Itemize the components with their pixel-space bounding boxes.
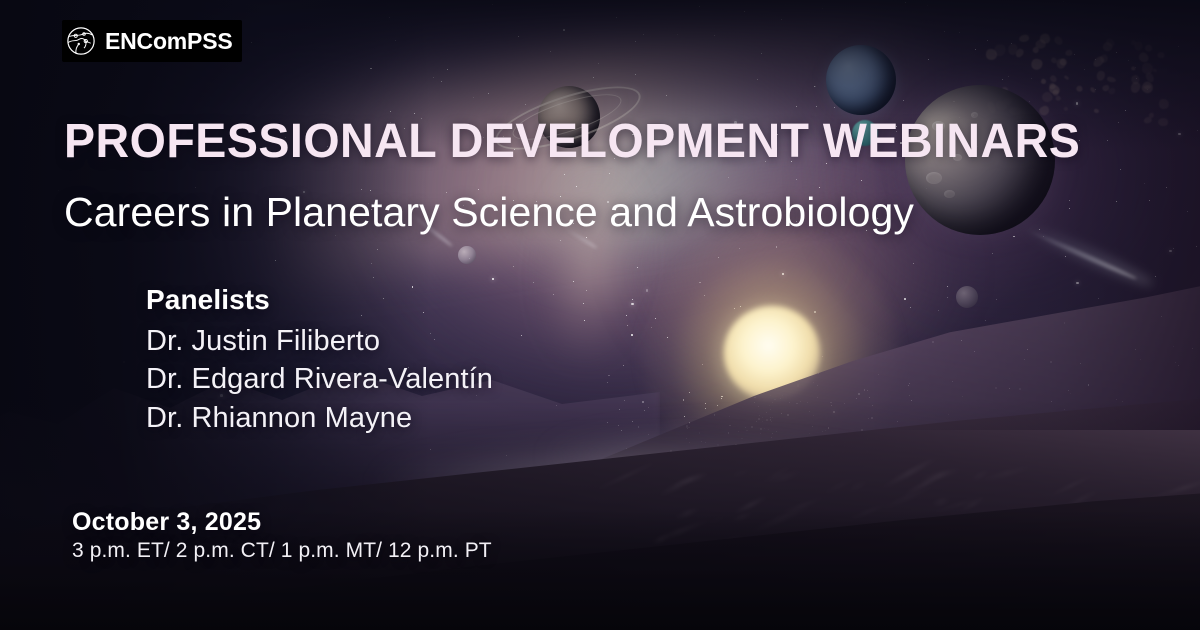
event-date: October 3, 2025 [72, 508, 492, 537]
brand-logo[interactable]: ENComPSS [62, 20, 242, 62]
webinar-poster: ENComPSS PROFESSIONAL DEVELOPMENT WEBINA… [0, 0, 1200, 630]
panelists-heading: Panelists [146, 284, 493, 316]
brand-name: ENComPSS [105, 30, 232, 53]
panelist-name: Dr. Edgard Rivera-Valentín [146, 360, 493, 398]
page-subtitle: Careers in Planetary Science and Astrobi… [64, 190, 914, 235]
panelist-name: Dr. Justin Filiberto [146, 322, 493, 360]
panelist-name: Dr. Rhiannon Mayne [146, 399, 493, 437]
globe-network-icon [66, 26, 96, 56]
panelists-block: Panelists Dr. Justin Filiberto Dr. Edgar… [146, 284, 493, 437]
schedule-block: October 3, 2025 3 p.m. ET/ 2 p.m. CT/ 1 … [72, 508, 492, 563]
page-title: PROFESSIONAL DEVELOPMENT WEBINARS [64, 118, 1080, 166]
event-times: 3 p.m. ET/ 2 p.m. CT/ 1 p.m. MT/ 12 p.m.… [72, 539, 492, 563]
